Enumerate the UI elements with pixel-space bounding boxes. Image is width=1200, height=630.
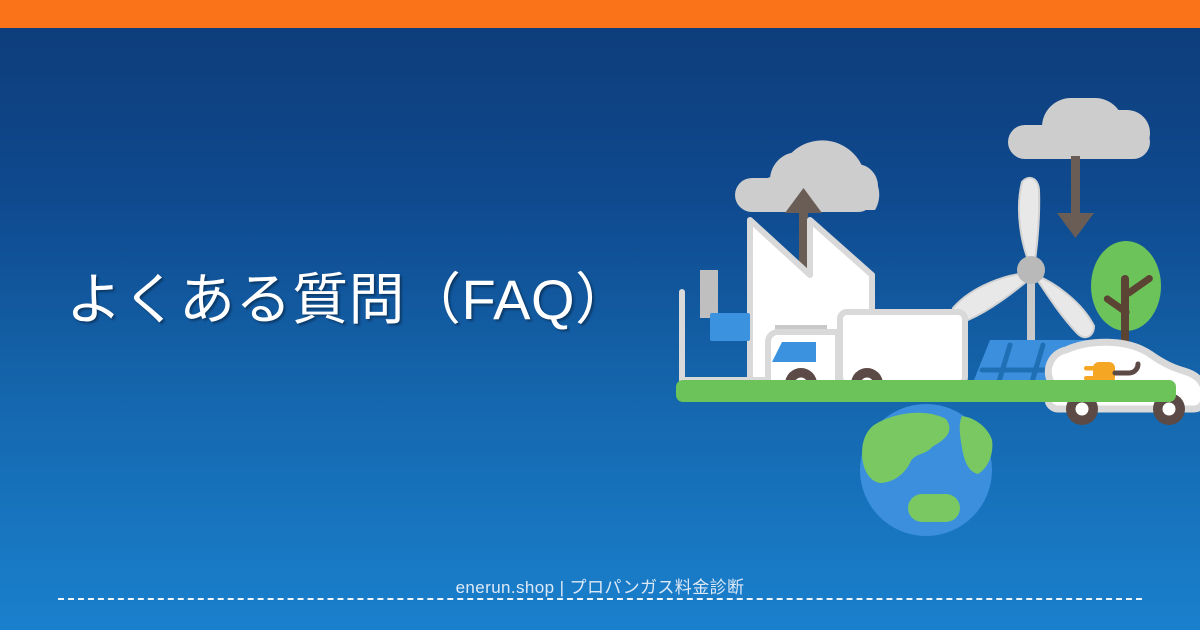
earth-globe-icon (860, 404, 992, 536)
down-arrow-icon (1057, 156, 1094, 238)
eco-energy-illustration (650, 70, 1200, 550)
accent-top-bar (0, 0, 1200, 28)
footer-divider (58, 598, 1142, 600)
ground-bar (676, 380, 1176, 402)
page-title: よくある質問（FAQ） (66, 266, 632, 333)
footer-credit: enerun.shop | プロパンガス料金診断 (0, 573, 1200, 598)
slide-canvas: よくある質問（FAQ） (0, 0, 1200, 630)
